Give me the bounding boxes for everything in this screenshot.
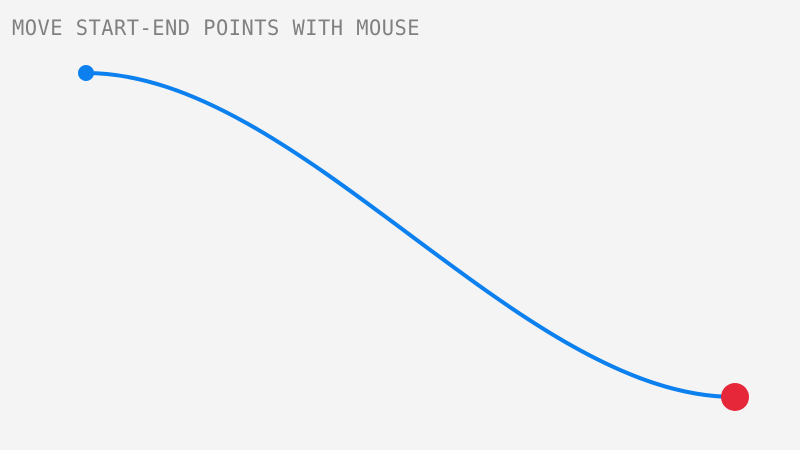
app-canvas-stage: MOVE START-END POINTS WITH MOUSE <box>0 0 800 450</box>
bezier-curve-path <box>86 73 735 397</box>
end-point-handle[interactable] <box>721 383 749 411</box>
start-point-handle[interactable] <box>78 65 94 81</box>
bezier-curve-canvas[interactable] <box>0 0 800 450</box>
